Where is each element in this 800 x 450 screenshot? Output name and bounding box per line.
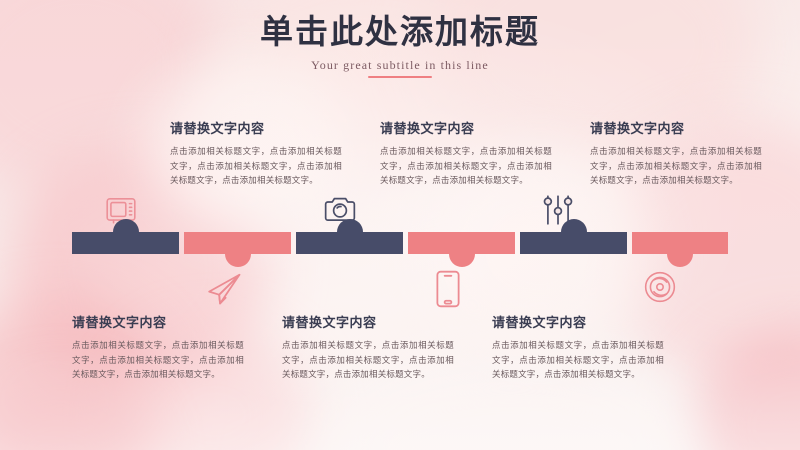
bottom-block-1-body: 点击添加相关标题文字，点击添加相关标题文字，点击添加相关标题文字，点击添加相关标… (72, 338, 244, 382)
top-block-2-heading: 请替换文字内容 (380, 118, 552, 137)
page-subtitle[interactable]: Your great subtitle in this line (0, 58, 800, 73)
bottom-block-1-heading: 请替换文字内容 (72, 312, 244, 331)
top-block-1-body: 点击添加相关标题文字，点击添加相关标题文字，点击添加相关标题文字，点击添加相关标… (170, 144, 342, 188)
bottom-block-3-heading: 请替换文字内容 (492, 312, 664, 331)
paper-plane-icon[interactable] (205, 270, 243, 308)
subtitle-underline (368, 76, 432, 78)
timeline-segment-5[interactable] (520, 232, 627, 254)
top-block-1-heading: 请替换文字内容 (170, 118, 342, 137)
timeline-bar (72, 232, 728, 254)
compact-disc-icon[interactable] (643, 270, 677, 304)
bottom-block-2-body: 点击添加相关标题文字，点击添加相关标题文字，点击添加相关标题文字，点击添加相关标… (282, 338, 454, 382)
timeline-segment-4[interactable] (408, 232, 515, 254)
slide-canvas: 单击此处添加标题 Your great subtitle in this lin… (0, 0, 800, 450)
top-text-block-1[interactable]: 请替换文字内容 点击添加相关标题文字，点击添加相关标题文字，点击添加相关标题文字… (170, 118, 342, 188)
bottom-text-block-2[interactable]: 请替换文字内容 点击添加相关标题文字，点击添加相关标题文字，点击添加相关标题文字… (282, 312, 454, 382)
slide-header: 单击此处添加标题 Your great subtitle in this lin… (0, 12, 800, 78)
top-text-block-3[interactable]: 请替换文字内容 点击添加相关标题文字，点击添加相关标题文字，点击添加相关标题文字… (590, 118, 762, 188)
timeline-segment-1[interactable] (72, 232, 179, 254)
top-block-3-body: 点击添加相关标题文字，点击添加相关标题文字，点击添加相关标题文字，点击添加相关标… (590, 144, 762, 188)
bottom-text-block-1[interactable]: 请替换文字内容 点击添加相关标题文字，点击添加相关标题文字，点击添加相关标题文字… (72, 312, 244, 382)
top-block-3-heading: 请替换文字内容 (590, 118, 762, 137)
timeline-segment-6[interactable] (632, 232, 728, 254)
top-block-2-body: 点击添加相关标题文字，点击添加相关标题文字，点击添加相关标题文字，点击添加相关标… (380, 144, 552, 188)
smartphone-icon[interactable] (433, 270, 463, 308)
timeline-segment-2[interactable] (184, 232, 291, 254)
page-title[interactable]: 单击此处添加标题 (0, 12, 800, 52)
top-text-block-2[interactable]: 请替换文字内容 点击添加相关标题文字，点击添加相关标题文字，点击添加相关标题文字… (380, 118, 552, 188)
timeline-segment-3[interactable] (296, 232, 403, 254)
bottom-block-3-body: 点击添加相关标题文字，点击添加相关标题文字，点击添加相关标题文字，点击添加相关标… (492, 338, 664, 382)
bottom-text-block-3[interactable]: 请替换文字内容 点击添加相关标题文字，点击添加相关标题文字，点击添加相关标题文字… (492, 312, 664, 382)
bottom-block-2-heading: 请替换文字内容 (282, 312, 454, 331)
